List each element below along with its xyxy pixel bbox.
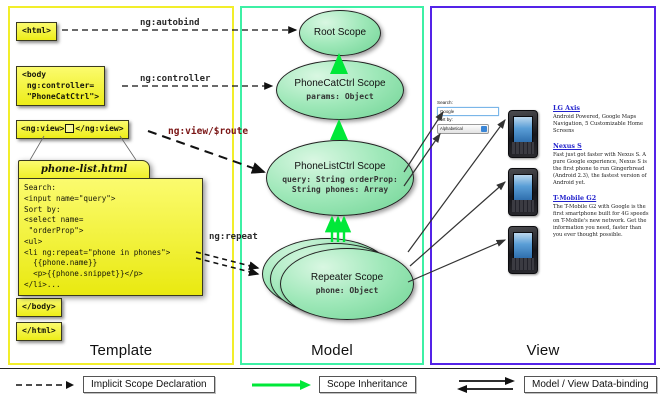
code-body-close: </body> — [16, 298, 62, 317]
list-item: Nexus S Fast just got faster with Nexus … — [553, 142, 649, 187]
scope-phonelistctrl: PhoneListCtrl Scope query: String orderP… — [266, 140, 414, 216]
panel-model-label: Model — [242, 342, 422, 359]
legend-item-scope-inheritance: Scope Inheritance — [250, 376, 416, 393]
code-body-open: <body ng:controller= "PhoneCatCtrl"> — [16, 66, 105, 106]
label-ng-controller: ng:controller — [140, 74, 210, 84]
legend-item-data-binding: Model / View Data-binding — [455, 376, 657, 393]
scope-repeater-name: Repeater Scope — [311, 272, 383, 284]
list-item: LG Axis Android Powered, Google Maps Nav… — [553, 104, 649, 135]
scope-phonelistctrl-name: PhoneListCtrl Scope — [294, 161, 385, 173]
code-html-open: <html> — [16, 22, 57, 41]
dashed-arrow-icon — [14, 379, 76, 391]
phone-link-2[interactable]: Nexus S — [553, 142, 649, 150]
panel-template-label: Template — [10, 342, 232, 359]
phone-keyboard — [512, 142, 534, 154]
scope-phonecatctrl-name: PhoneCatCtrl Scope — [294, 78, 385, 90]
phone-screen — [513, 174, 533, 201]
phone-keyboard — [512, 200, 534, 212]
sort-select[interactable]: Alphabetical — [437, 124, 489, 134]
panel-view-label: View — [432, 342, 654, 359]
view-phone-list: LG Axis Android Powered, Google Maps Nav… — [553, 104, 649, 246]
double-arrow-icon — [455, 377, 517, 393]
scope-phonelistctrl-vars: query: String orderProp: String phones: … — [267, 175, 413, 195]
green-arrow-icon — [250, 379, 312, 391]
legend: Implicit Scope Declaration Scope Inherit… — [0, 368, 660, 406]
label-ng-autobind: ng:autobind — [140, 18, 200, 28]
scope-root-name: Root Scope — [314, 27, 366, 39]
search-input[interactable]: Google — [437, 107, 499, 116]
phone-keyboard — [512, 258, 534, 270]
scope-phonecatctrl: PhoneCatCtrl Scope params: Object — [276, 60, 404, 120]
template-file-code: Search: <input name="query"> Sort by: <s… — [18, 178, 203, 296]
phone-desc-2: Fast just got faster with Nexus S. A pur… — [553, 152, 649, 187]
phone-link-1[interactable]: LG Axis — [553, 104, 649, 112]
ngview-placeholder-icon — [65, 124, 74, 133]
phone-screen — [513, 232, 533, 259]
phone-desc-3: The T-Mobile G2 with Google is the first… — [553, 204, 649, 239]
phone-thumbnail-1 — [508, 110, 538, 158]
legend-label-implicit-scope: Implicit Scope Declaration — [83, 376, 215, 393]
label-ng-repeat: ng:repeat — [209, 232, 258, 242]
view-search-form: Search: Google Sort by: Alphabetical — [437, 100, 499, 134]
scope-repeater-vars: phone: Object — [316, 286, 379, 296]
sort-select-value: Alphabetical — [440, 126, 463, 131]
ngview-close-tag: </ng:view> — [75, 124, 123, 133]
scope-repeater-stack: Repeater Scope phone: Object — [262, 238, 414, 320]
scope-phonecatctrl-vars: params: Object — [306, 92, 373, 102]
phone-thumbnail-3 — [508, 226, 538, 274]
scope-root: Root Scope — [299, 10, 381, 56]
ngview-open-tag: <ng:view> — [21, 124, 64, 133]
template-file-callout: phone-list.html Search: <input name="que… — [18, 160, 203, 296]
search-label: Search: — [437, 100, 499, 107]
template-file-name: phone-list.html — [18, 160, 150, 178]
legend-label-data-binding: Model / View Data-binding — [524, 376, 657, 393]
diagram-canvas: Template Model View — [0, 0, 660, 405]
phone-desc-1: Android Powered, Google Maps Navigation,… — [553, 114, 649, 135]
code-ngview: <ng:view></ng:view> — [16, 120, 129, 139]
chevron-down-icon — [481, 126, 487, 132]
list-item: T-Mobile G2 The T-Mobile G2 with Google … — [553, 194, 649, 239]
sort-label: Sort by: — [437, 117, 499, 124]
phone-screen — [513, 116, 533, 143]
label-ng-view-route: ng:view/$route — [168, 126, 248, 137]
scope-repeater: Repeater Scope phone: Object — [280, 248, 414, 320]
code-html-close: </html> — [16, 322, 62, 341]
phone-thumbnail-2 — [508, 168, 538, 216]
legend-item-implicit-scope: Implicit Scope Declaration — [14, 376, 215, 393]
phone-link-3[interactable]: T-Mobile G2 — [553, 194, 649, 202]
legend-label-scope-inheritance: Scope Inheritance — [319, 376, 416, 393]
